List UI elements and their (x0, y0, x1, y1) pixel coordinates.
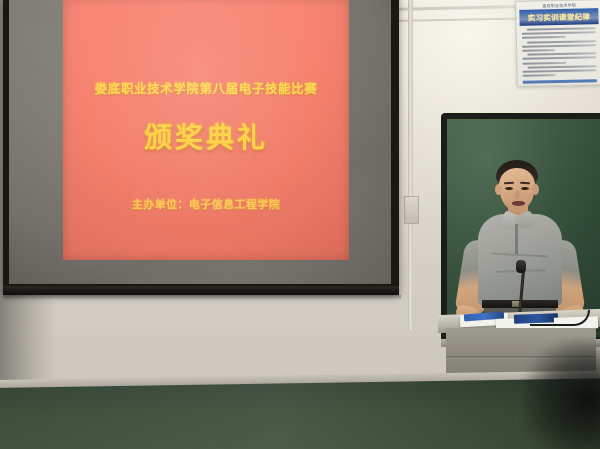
wall-poster: 娄底职业技术学院 实习实训课堂纪律 (515, 0, 600, 87)
poster-banner: 实习实训课堂纪律 (519, 8, 598, 26)
lower-wall-sheen (0, 378, 600, 449)
poster-banner-title: 实习实训课堂纪律 (528, 11, 591, 23)
presenter-eye-right (521, 187, 529, 190)
microphone-cable (530, 310, 590, 326)
slide-headline: 颁奖典礼 (63, 116, 349, 156)
presenter-nose (515, 191, 520, 199)
lower-wall-green-panel (0, 378, 600, 449)
presenter-ear-left (495, 184, 502, 195)
presenter-mouth (512, 201, 525, 206)
shirt-placket (515, 224, 518, 254)
foreground-blur (524, 340, 600, 449)
screen-bottom-frame (3, 286, 399, 295)
slide-title: 娄底职业技术学院第八届电子技能比赛 (63, 78, 349, 97)
screen-drop-shadow (3, 295, 401, 300)
poster-body-text (522, 27, 597, 79)
projection-screen: 娄底职业技术学院第八届电子技能比赛 颁奖典礼 主办单位：电子信息工程学院 (3, 0, 399, 294)
presenter-eye-left (505, 187, 513, 190)
poster-footer-bar (523, 79, 597, 84)
microphone-icon (516, 260, 526, 273)
projection-screen-surface: 娄底职业技术学院第八届电子技能比赛 颁奖典礼 主办单位：电子信息工程学院 (9, 0, 391, 284)
wall-conduit (408, 0, 413, 330)
wall-outlet-box (404, 196, 419, 224)
slide-subtitle: 主办单位：电子信息工程学院 (63, 196, 349, 212)
presentation-slide: 娄底职业技术学院第八届电子技能比赛 颁奖典礼 主办单位：电子信息工程学院 (63, 0, 349, 260)
presenter-ear-right (532, 184, 539, 195)
photo-scene: 娄底职业技术学院 实习实训课堂纪律 (0, 0, 600, 449)
